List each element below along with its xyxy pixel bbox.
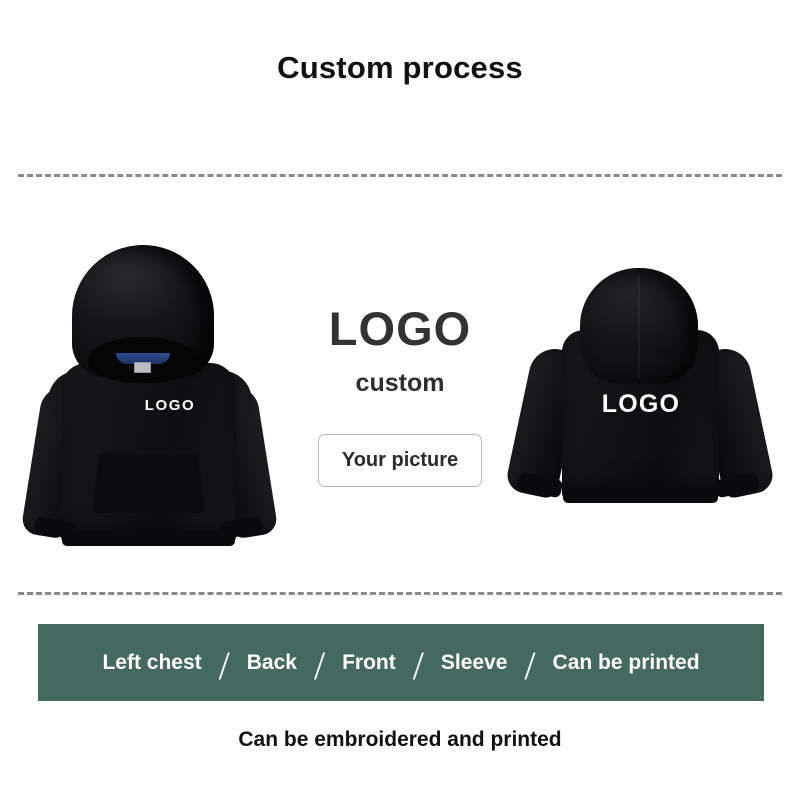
front-view-hoodie: LOGO: [30, 245, 270, 555]
custom-panel: LOGO custom Your picture: [270, 190, 530, 487]
your-picture-box[interactable]: Your picture: [318, 434, 482, 487]
hoodie-front-logo-text: LOGO: [120, 397, 220, 414]
option-left-chest[interactable]: Left chest: [100, 651, 203, 675]
your-picture-label: Your picture: [342, 449, 458, 472]
hoodie-front-kangaroo-pocket: [92, 451, 205, 513]
hoodie-back-hem: [563, 486, 718, 503]
footer-note: Can be embroidered and printed: [0, 728, 800, 752]
back-view-hoodie: LOGO: [505, 268, 770, 553]
divider-bottom: [18, 592, 782, 595]
logo-heading: LOGO: [270, 305, 530, 352]
option-separator-3: /: [398, 646, 439, 686]
divider-top: [18, 174, 782, 177]
option-separator-2: /: [299, 646, 340, 686]
print-locations-bar: Left chest / Back / Front / Sleeve / Can…: [38, 624, 764, 701]
custom-subheading: custom: [270, 371, 530, 396]
product-showcase: LOGO LOGO custom Your picture LOGO: [0, 190, 800, 585]
option-sleeve[interactable]: Sleeve: [439, 651, 510, 675]
option-separator-1: /: [204, 646, 245, 686]
hoodie-back-logo-text: LOGO: [565, 390, 717, 419]
option-back[interactable]: Back: [245, 651, 299, 675]
option-can-be-printed[interactable]: Can be printed: [551, 651, 702, 675]
option-separator-4: /: [509, 646, 550, 686]
hoodie-front-hem: [62, 530, 235, 546]
hoodie-back-hood-seam: [638, 274, 640, 378]
option-front[interactable]: Front: [340, 651, 398, 675]
hoodie-front-neck-label: [134, 362, 151, 373]
page-title: Custom process: [0, 50, 800, 86]
